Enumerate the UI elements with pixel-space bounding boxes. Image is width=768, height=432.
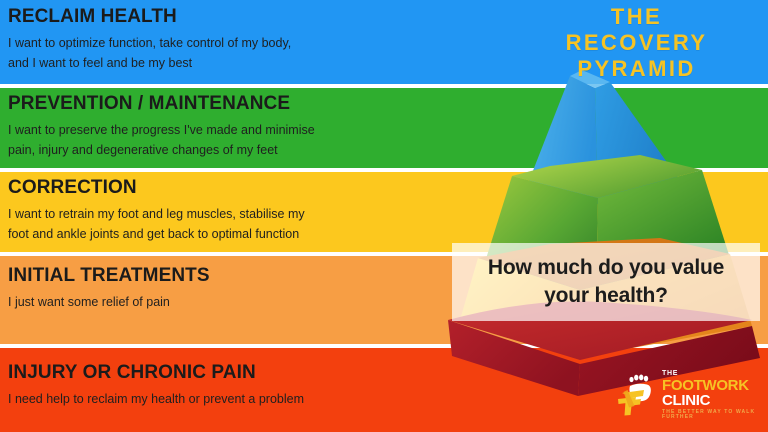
question-line-1: How much do you value	[488, 256, 724, 279]
logo-the-text: THE	[662, 370, 764, 377]
level-title: PREVENTION / MAINTENANCE	[8, 88, 768, 115]
level-body: I just want some relief of pain	[8, 287, 438, 312]
level-body-line2: pain, injury and degenerative changes of…	[8, 143, 278, 157]
level-body-line2: and I want to feel and be my best	[8, 56, 192, 70]
level-body: I need help to reclaim my health or prev…	[8, 384, 438, 409]
logo-wordmark: THE FOOTWORK CLINIC THE BETTER WAY TO WA…	[662, 370, 764, 422]
poster-title: THE RECOVERY PYRAMID	[505, 4, 768, 82]
question-text: How much do you value your health?	[488, 254, 724, 309]
level-body-line1: I want to retrain my foot and leg muscle…	[8, 207, 305, 221]
level-body: I want to preserve the progress I've mad…	[8, 115, 438, 161]
level-row-prevention-maintenance: PREVENTION / MAINTENANCE I want to prese…	[0, 88, 768, 168]
level-row-correction: CORRECTION I want to retrain my foot and…	[0, 172, 768, 252]
question-callout: How much do you value your health?	[452, 243, 760, 321]
level-body-line1: I want to preserve the progress I've mad…	[8, 123, 315, 137]
infographic-canvas: RECLAIM HEALTH I want to optimize functi…	[0, 0, 768, 432]
footwork-clinic-logo[interactable]: THE FOOTWORK CLINIC THE BETTER WAY TO WA…	[614, 372, 764, 420]
level-body-line2: foot and ankle joints and get back to op…	[8, 227, 299, 241]
level-body-line1: I just want some relief of pain	[8, 295, 170, 309]
level-body: I want to retrain my foot and leg muscle…	[8, 199, 438, 245]
poster-title-line-1: THE	[505, 4, 768, 30]
poster-title-line-2: RECOVERY	[505, 30, 768, 56]
question-line-2: your health?	[544, 284, 668, 307]
level-body: I want to optimize function, take contro…	[8, 28, 438, 74]
level-body-line1: I need help to reclaim my health or prev…	[8, 392, 304, 406]
logo-tagline: THE BETTER WAY TO WALK FURTHER	[662, 410, 764, 420]
logo-name-text: FOOTWORK CLINIC	[662, 378, 764, 408]
level-body-line1: I want to optimize function, take contro…	[8, 36, 291, 50]
level-title: CORRECTION	[8, 172, 768, 199]
footprint-logo-icon	[614, 373, 660, 419]
poster-title-line-3: PYRAMID	[505, 56, 768, 82]
logo-name-clinic: CLINIC	[662, 392, 710, 409]
